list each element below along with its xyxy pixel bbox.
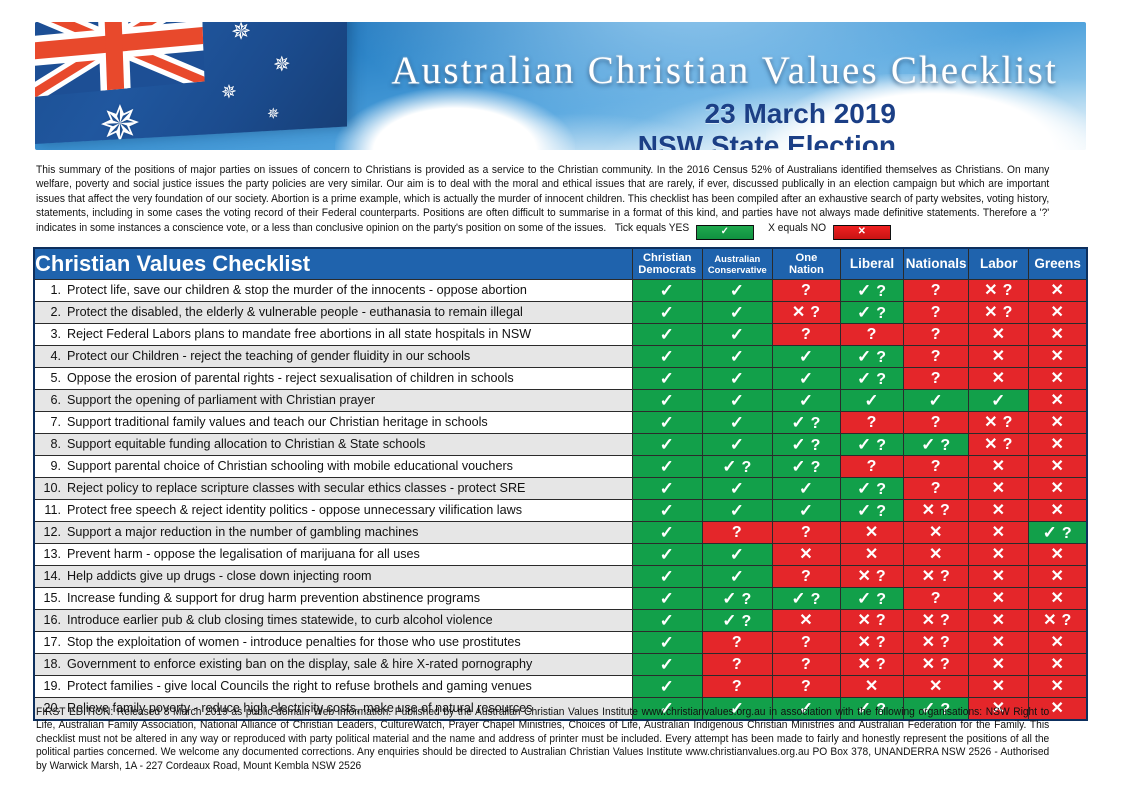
table-row: 17.Stop the exploitation of women - intr… [34, 632, 1087, 654]
cross-icon: ✕ [1050, 700, 1064, 717]
cell-mark: ✕ [1050, 700, 1064, 717]
cell-australian-conservative: ✓? [702, 456, 772, 478]
tick-icon: ✓ [660, 457, 675, 476]
tick-icon: ✓ [660, 435, 675, 454]
tick-icon: ✓ [799, 501, 814, 520]
cell-mark: ✕ [1050, 414, 1064, 431]
cell-one-nation: ✓? [772, 412, 840, 434]
tick-icon: ✓ [1043, 523, 1058, 542]
cell-labor: ✕ [969, 324, 1029, 346]
cross-icon: ✕ [992, 612, 1006, 629]
cell-mark: ✕? [1043, 612, 1072, 629]
cell-liberal: ? [841, 324, 904, 346]
cross-icon: ✕ [992, 348, 1006, 365]
tick-icon: ✓ [857, 369, 872, 388]
cell-one-nation: ✓ [772, 478, 840, 500]
row-text: Protect life, save our children & stop t… [67, 283, 527, 297]
question-icon: ? [801, 634, 812, 651]
cell-mark: ? [801, 678, 812, 695]
cell-mark: ✕ [1050, 546, 1064, 563]
cell-australian-conservative: ✓ [702, 478, 772, 500]
question-icon: ? [931, 414, 942, 431]
banner-title: Australian Christian Values Checklist [35, 48, 1058, 93]
row-label: 4.Protect our Children - reject the teac… [34, 346, 632, 368]
cell-one-nation: ? [772, 324, 840, 346]
cell-nationals: ? [904, 324, 969, 346]
row-label: 12.Support a major reduction in the numb… [34, 522, 632, 544]
cell-liberal: ✓ [841, 390, 904, 412]
cell-mark: ✕ [799, 546, 813, 563]
cross-icon: ✕ [922, 568, 936, 585]
cell-one-nation: ✓? [772, 456, 840, 478]
column-header-greens: Greens [1029, 248, 1087, 280]
tick-icon: ✓ [799, 369, 814, 388]
column-header-line2: Nation [773, 264, 840, 276]
cell-australian-conservative: ✓ [702, 412, 772, 434]
cross-icon: ✕ [992, 568, 1006, 585]
table-body: 1.Protect life, save our children & stop… [34, 280, 1087, 721]
cell-greens: ✕? [1029, 610, 1087, 632]
cell-mark: ✓? [791, 414, 821, 432]
cell-christian-democrats: ✓ [632, 368, 702, 390]
cell-mark: ✕? [922, 656, 951, 673]
cell-liberal: ? [841, 456, 904, 478]
tick-icon: ✓ [857, 303, 872, 322]
cell-australian-conservative: ✓ [702, 500, 772, 522]
cell-christian-democrats: ✓ [632, 478, 702, 500]
cell-mark: ✓? [791, 436, 821, 454]
cell-liberal: ✕? [841, 632, 904, 654]
cross-icon: ✕ [929, 524, 943, 541]
cell-australian-conservative: ✓ [702, 368, 772, 390]
cell-mark: ? [867, 326, 878, 343]
cell-nationals: ? [904, 302, 969, 324]
cell-mark: ? [931, 480, 942, 497]
cross-icon: ✕ [992, 678, 1006, 695]
tick-icon: ✓ [730, 391, 745, 410]
cell-greens: ✕ [1029, 676, 1087, 698]
cell-nationals: ? [904, 368, 969, 390]
legend-no-label: X equals NO [768, 222, 826, 234]
row-number: 12. [35, 522, 61, 543]
question-icon: ? [931, 304, 942, 321]
legend-no-chip: ✕ [833, 225, 891, 240]
cross-icon: ✕ [1050, 392, 1064, 409]
question-icon: ? [931, 282, 942, 299]
cell-christian-democrats: ✓ [632, 302, 702, 324]
table-row: 11.Protect free speech & reject identity… [34, 500, 1087, 522]
question-icon: ? [876, 568, 887, 585]
cross-icon: ✕ [1050, 502, 1064, 519]
cross-icon: ✕ [865, 524, 879, 541]
cell-mark: ✕ [992, 502, 1006, 519]
cell-mark: ✓ [660, 304, 675, 322]
cell-labor: ✕? [969, 434, 1029, 456]
cell-mark: ✕ [992, 568, 1006, 585]
row-label: 17.Stop the exploitation of women - intr… [34, 632, 632, 654]
cross-icon: ✕ [992, 480, 1006, 497]
cell-mark: ✓? [857, 304, 887, 322]
tick-icon: ✓ [660, 655, 675, 674]
cell-australian-conservative: ✓ [702, 346, 772, 368]
column-header-line2: Democrats [633, 264, 702, 276]
cross-icon: ✕ [857, 568, 871, 585]
cross-icon: ✕ [1050, 590, 1064, 607]
cross-icon: ✕ [1043, 612, 1057, 629]
question-icon: ? [811, 437, 822, 454]
cell-labor: ✕ [969, 610, 1029, 632]
cross-icon: ✕ [929, 546, 943, 563]
legend-yes-chip: ✓ [696, 225, 754, 240]
table-row: 2.Protect the disabled, the elderly & vu… [34, 302, 1087, 324]
tick-icon: ✓ [660, 479, 675, 498]
tick-icon: ✓ [730, 501, 745, 520]
cell-mark: ✕ [1050, 304, 1064, 321]
question-icon: ? [876, 437, 887, 454]
cell-mark: ? [732, 656, 743, 673]
cross-icon: ✕ [1050, 568, 1064, 585]
cell-mark: ? [801, 326, 812, 343]
cell-mark: ? [931, 282, 942, 299]
cell-mark: ✕ [1050, 370, 1064, 387]
cross-icon: ✕ [992, 634, 1006, 651]
question-icon: ? [732, 678, 743, 695]
cross-icon: ✕ [992, 370, 1006, 387]
table-row: 4.Protect our Children - reject the teac… [34, 346, 1087, 368]
cell-mark: ? [931, 370, 942, 387]
cross-icon: ✕ [799, 546, 813, 563]
table-row: 7.Support traditional family values and … [34, 412, 1087, 434]
cross-icon: ✕ [922, 502, 936, 519]
row-number: 15. [35, 588, 61, 609]
cell-christian-democrats: ✓ [632, 588, 702, 610]
tick-icon: ✓ [660, 413, 675, 432]
cross-icon: ✕ [929, 678, 943, 695]
cell-mark: ✓ [730, 414, 745, 432]
cell-christian-democrats: ✓ [632, 544, 702, 566]
legend-yes-label: Tick equals YES [615, 222, 689, 234]
cell-labor: ✕ [969, 544, 1029, 566]
cell-mark: ✕ [992, 590, 1006, 607]
intro-text: This summary of the positions of major p… [36, 164, 1049, 234]
cell-one-nation: ? [772, 522, 840, 544]
cell-liberal: ✕? [841, 610, 904, 632]
row-label: 3.Reject Federal Labors plans to mandate… [34, 324, 632, 346]
cell-australian-conservative: ✓? [702, 610, 772, 632]
row-text: Support the opening of parliament with C… [67, 393, 375, 407]
cell-greens: ✕ [1029, 346, 1087, 368]
cell-mark: ✓ [864, 392, 879, 410]
cell-nationals: ? [904, 478, 969, 500]
table-row: 15.Increase funding & support for drug h… [34, 588, 1087, 610]
row-text: Reject Federal Labors plans to mandate f… [67, 327, 531, 341]
row-text: Support equitable funding allocation to … [67, 437, 425, 451]
cell-greens: ✕ [1029, 456, 1087, 478]
cell-australian-conservative: ✓ [702, 390, 772, 412]
table-header-row: Christian Values Checklist ChristianDemo… [34, 248, 1087, 280]
cell-mark: ✓? [857, 348, 887, 366]
row-text: Support parental choice of Christian sch… [67, 459, 513, 473]
row-number: 17. [35, 632, 61, 653]
table-row: 18.Government to enforce existing ban on… [34, 654, 1087, 676]
cell-labor: ✕ [969, 632, 1029, 654]
cell-mark: ✓ [660, 568, 675, 586]
cell-mark: ✓? [921, 436, 951, 454]
column-header-australian-conservative: AustralianConservative [702, 248, 772, 280]
cell-mark: ✕ [992, 348, 1006, 365]
banner-subtitle: NSW State Election [638, 130, 896, 150]
cell-mark: ✕? [792, 304, 821, 321]
cell-mark: ✕ [992, 458, 1006, 475]
cell-mark: ✕ [865, 546, 879, 563]
table-row: 16.Introduce earlier pub & club closing … [34, 610, 1087, 632]
cross-icon: ✕ [922, 634, 936, 651]
tick-icon: ✓ [857, 281, 872, 300]
tick-icon: ✓ [660, 589, 675, 608]
cell-mark: ✓ [730, 392, 745, 410]
column-header-labor: Labor [969, 248, 1029, 280]
cell-greens: ✕ [1029, 412, 1087, 434]
cell-australian-conservative: ? [702, 676, 772, 698]
cell-mark: ✓? [722, 612, 752, 630]
question-icon: ? [811, 591, 822, 608]
cell-mark: ✓ [929, 392, 944, 410]
cell-nationals: ? [904, 280, 969, 302]
column-header-nationals: Nationals [904, 248, 969, 280]
cross-icon: ✕ [1050, 458, 1064, 475]
cell-mark: ✕ [1050, 568, 1064, 585]
cell-mark: ✕? [984, 436, 1013, 453]
cell-mark: ✕ [1050, 392, 1064, 409]
table-row: 5.Oppose the erosion of parental rights … [34, 368, 1087, 390]
cell-liberal: ✓? [841, 346, 904, 368]
cross-icon: ✕ [865, 678, 879, 695]
cell-labor: ✕ [969, 522, 1029, 544]
question-icon: ? [876, 371, 887, 388]
table-row: 14.Help addicts give up drugs - close do… [34, 566, 1087, 588]
row-text: Prevent harm - oppose the legalisation o… [67, 547, 420, 561]
cell-nationals: ✕? [904, 632, 969, 654]
cell-mark: ✕ [992, 656, 1006, 673]
cell-labor: ✕ [969, 346, 1029, 368]
cloud-left-decoration [335, 88, 575, 150]
cross-icon: ✕ [992, 458, 1006, 475]
cross-icon: ✕ [984, 436, 998, 453]
question-icon: ? [732, 524, 743, 541]
cell-mark: ? [732, 678, 743, 695]
cell-mark: ? [931, 414, 942, 431]
tick-icon: ✓ [864, 391, 879, 410]
tick-icon: ✓ [730, 281, 745, 300]
tick-icon: ✓ [921, 435, 936, 454]
row-label: 15.Increase funding & support for drug h… [34, 588, 632, 610]
question-icon: ? [801, 678, 812, 695]
cell-mark: ✓? [1043, 524, 1073, 542]
column-header-line1: One [773, 252, 840, 264]
cell-mark: ? [867, 414, 878, 431]
table-row: 13.Prevent harm - oppose the legalisatio… [34, 544, 1087, 566]
cell-mark: ✓? [857, 590, 887, 608]
cell-liberal: ✓? [841, 302, 904, 324]
cell-mark: ? [931, 590, 942, 607]
cell-mark: ✓ [730, 326, 745, 344]
cell-mark: ✕ [1050, 458, 1064, 475]
tick-icon: ✓ [660, 611, 675, 630]
cross-icon: ✕ [1050, 304, 1064, 321]
southern-cross-star-icon: ✵ [231, 22, 251, 45]
question-icon: ? [811, 459, 822, 476]
cell-liberal: ✕? [841, 566, 904, 588]
cell-nationals: ? [904, 456, 969, 478]
column-header-one-nation: OneNation [772, 248, 840, 280]
cell-mark: ✓? [722, 590, 752, 608]
cell-mark: ? [801, 282, 812, 299]
question-icon: ? [876, 349, 887, 366]
cross-icon: ✕ [992, 502, 1006, 519]
cell-one-nation: ? [772, 654, 840, 676]
column-header-line2: Conservative [703, 264, 772, 275]
cell-mark: ✓ [660, 348, 675, 366]
cell-mark: ✓? [857, 480, 887, 498]
cell-mark: ✕ [1050, 282, 1064, 299]
row-number: 9. [35, 456, 61, 477]
cell-labor: ✕ [969, 676, 1029, 698]
table-row: 12.Support a major reduction in the numb… [34, 522, 1087, 544]
cell-liberal: ? [841, 412, 904, 434]
tick-icon: ✓ [660, 281, 675, 300]
cell-mark: ✕ [992, 546, 1006, 563]
cell-one-nation: ? [772, 280, 840, 302]
cross-icon: ✕ [992, 656, 1006, 673]
cell-labor: ✕ [969, 500, 1029, 522]
tick-icon: ✓ [660, 325, 675, 344]
row-number: 7. [35, 412, 61, 433]
cell-mark: ? [732, 634, 743, 651]
cell-mark: ✓ [660, 414, 675, 432]
cross-icon: ✕ [799, 612, 813, 629]
cell-mark: ✕? [857, 568, 886, 585]
cell-liberal: ✓? [841, 478, 904, 500]
cell-mark: ✕? [857, 612, 886, 629]
row-number: 10. [35, 478, 61, 499]
column-header-christian-democrats: ChristianDemocrats [632, 248, 702, 280]
row-number: 4. [35, 346, 61, 367]
cell-mark: ✓ [660, 590, 675, 608]
row-label: 6.Support the opening of parliament with… [34, 390, 632, 412]
cell-one-nation: ? [772, 676, 840, 698]
row-number: 11. [35, 500, 61, 521]
cell-mark: ✕ [1050, 348, 1064, 365]
tick-icon: ✓ [929, 391, 944, 410]
cell-christian-democrats: ✓ [632, 346, 702, 368]
row-text: Oppose the erosion of parental rights - … [67, 371, 514, 385]
question-icon: ? [867, 458, 878, 475]
table-row: 9.Support parental choice of Christian s… [34, 456, 1087, 478]
row-label: 2.Protect the disabled, the elderly & vu… [34, 302, 632, 324]
cell-mark: ✕ [1050, 436, 1064, 453]
cell-one-nation: ✕ [772, 544, 840, 566]
cell-mark: ✕ [992, 678, 1006, 695]
cell-mark: ✓ [730, 370, 745, 388]
question-icon: ? [931, 480, 942, 497]
row-text: Support a major reduction in the number … [67, 525, 418, 539]
cell-mark: ✕ [929, 546, 943, 563]
cross-icon: ✕ [984, 304, 998, 321]
cell-one-nation: ✕ [772, 610, 840, 632]
cell-mark: ✕ [992, 370, 1006, 387]
cell-labor: ✕? [969, 302, 1029, 324]
tick-icon: ✓ [730, 567, 745, 586]
row-label: 19.Protect families - give local Council… [34, 676, 632, 698]
cell-nationals: ✕ [904, 544, 969, 566]
cross-icon: ✕ [992, 546, 1006, 563]
table-row: 8.Support equitable funding allocation t… [34, 434, 1087, 456]
cell-mark: ✕ [992, 634, 1006, 651]
tick-icon: ✓ [660, 347, 675, 366]
question-icon: ? [931, 458, 942, 475]
question-icon: ? [940, 502, 951, 519]
cell-greens: ✕ [1029, 654, 1087, 676]
row-label: 14.Help addicts give up drugs - close do… [34, 566, 632, 588]
cell-mark: ✕ [1050, 678, 1064, 695]
row-text: Introduce earlier pub & club closing tim… [67, 613, 493, 627]
cross-icon: ✕ [1050, 656, 1064, 673]
row-label: 1.Protect life, save our children & stop… [34, 280, 632, 302]
table-row: 1.Protect life, save our children & stop… [34, 280, 1087, 302]
row-text: Protect our Children - reject the teachi… [67, 349, 470, 363]
tick-icon: ✓ [660, 545, 675, 564]
cell-nationals: ✓? [904, 434, 969, 456]
table-row: 10.Reject policy to replace scripture cl… [34, 478, 1087, 500]
cross-icon: ✕ [1050, 480, 1064, 497]
row-number: 5. [35, 368, 61, 389]
cell-nationals: ? [904, 346, 969, 368]
tick-icon: ✓ [722, 611, 737, 630]
cell-liberal: ✓? [841, 434, 904, 456]
cell-one-nation: ✓ [772, 390, 840, 412]
tick-icon: ✓ [730, 303, 745, 322]
cell-mark: ✓ [730, 348, 745, 366]
cell-mark: ✓? [857, 436, 887, 454]
cell-mark: ✓ [730, 282, 745, 300]
footer-text: FIRST EDITION: Released 8 March 2019 as … [36, 706, 1049, 773]
question-icon: ? [742, 459, 753, 476]
cell-christian-democrats: ✓ [632, 434, 702, 456]
cell-christian-democrats: ✓ [632, 412, 702, 434]
tick-icon: ✓ [660, 501, 675, 520]
cell-mark: ✓ [660, 502, 675, 520]
cell-greens: ✕ [1029, 368, 1087, 390]
cell-mark: ✓ [660, 282, 675, 300]
cell-mark: ✕? [857, 656, 886, 673]
row-text: Help addicts give up drugs - close down … [67, 569, 372, 583]
row-text: Protect the disabled, the elderly & vuln… [67, 305, 523, 319]
cell-nationals: ✕? [904, 566, 969, 588]
commonwealth-star-icon: ✵ [99, 98, 141, 144]
cell-mark: ✕ [865, 524, 879, 541]
cell-australian-conservative: ✓ [702, 280, 772, 302]
cell-mark: ✓? [791, 590, 821, 608]
cell-greens: ✕ [1029, 544, 1087, 566]
cell-mark: ✕ [929, 524, 943, 541]
page-title: Christian Values Checklist [34, 248, 632, 280]
tick-icon: ✓ [722, 457, 737, 476]
row-label: 9.Support parental choice of Christian s… [34, 456, 632, 478]
question-icon: ? [1003, 304, 1014, 321]
question-icon: ? [1061, 612, 1072, 629]
question-icon: ? [876, 656, 887, 673]
row-label: 7.Support traditional family values and … [34, 412, 632, 434]
